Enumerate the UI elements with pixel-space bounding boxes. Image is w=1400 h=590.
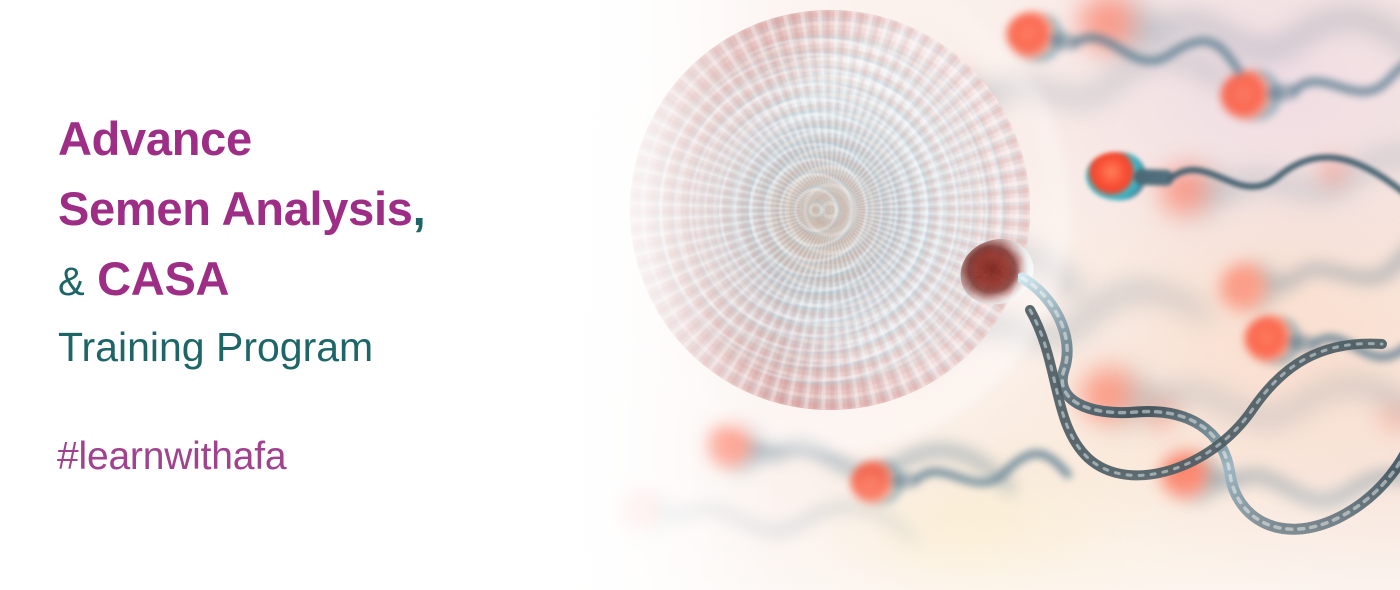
headline-line-2-text: Semen Analysis [58,182,413,235]
headline-comma: , [413,182,426,235]
headline-acronym-casa: CASA [97,252,229,305]
ovum-edge-crenellation [622,2,1038,418]
fertilization-illustration [520,0,1400,590]
banner: Advance Semen Analysis, & CASA Training … [0,0,1400,590]
hashtag: #learnwithafa [57,432,286,482]
text-panel: Advance Semen Analysis, & CASA Training … [0,0,560,590]
headline-line-2: Semen Analysis, [58,174,425,244]
headline-line-3: & CASA [58,244,425,317]
subtitle: Training Program [58,321,373,373]
ovum [630,10,1030,410]
headline-line-1: Advance [58,104,425,174]
page-title: Advance Semen Analysis, & CASA [58,104,425,317]
focused-sperm [1085,140,1400,222]
headline-ampersand: & [58,260,84,304]
foreground-sperm-tail [990,300,1400,590]
